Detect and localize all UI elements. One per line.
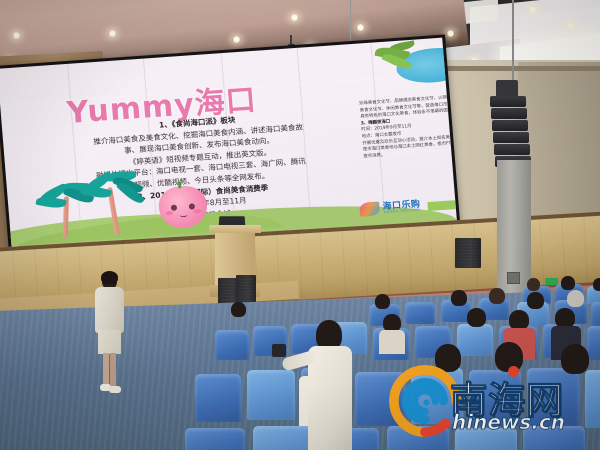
audience-head (561, 276, 575, 290)
watermark-en-text: hinews.cn (452, 410, 565, 434)
audience-head (375, 294, 390, 309)
downlight (446, 30, 455, 37)
audience-seat (195, 374, 241, 422)
audience-seat (215, 330, 249, 360)
audience-head (231, 302, 246, 317)
audience-seat (587, 326, 600, 360)
audience-head (593, 278, 600, 291)
downlight (566, 22, 575, 29)
audience-head (567, 290, 584, 307)
downlight (108, 30, 117, 37)
audience-photographer (298, 320, 356, 450)
camera-icon (272, 344, 286, 357)
logo-mark-icon (359, 201, 380, 216)
audience-head (527, 292, 544, 309)
palm-tree-icon (78, 171, 153, 238)
audience-head (527, 278, 540, 291)
presenter-standing (92, 272, 126, 398)
audience-seat (247, 370, 295, 420)
audience-seat (457, 324, 493, 356)
exit-sign (545, 278, 558, 285)
audience-head (451, 290, 467, 306)
photo-scene: Yummy海口 1、《食尚海口派》板块 推介海口美食及美食文化、挖掘海口美食内涵… (0, 0, 600, 450)
downlight (528, 6, 537, 13)
audience-head (489, 288, 505, 304)
audience-seat (591, 302, 600, 326)
downlight (232, 36, 241, 43)
audience-body (379, 330, 405, 354)
audience-head (555, 308, 575, 328)
audience-seat (185, 428, 245, 450)
downlight (356, 24, 365, 31)
stage-speaker (455, 238, 481, 268)
downlight (12, 32, 21, 39)
wall-trim (430, 66, 600, 71)
downlight (290, 14, 299, 21)
audience-head (509, 310, 529, 330)
wall-access-plate (507, 272, 520, 284)
slide-right-column: 珍珠美食文化节、品牌酒店美食文化节、火锅美食文化节、西餐 美食文化节、休闲美食文… (359, 95, 457, 161)
audience-head (467, 308, 486, 327)
watermark: 南海网 hinews.cn (388, 362, 596, 444)
audience-seat (405, 302, 435, 324)
